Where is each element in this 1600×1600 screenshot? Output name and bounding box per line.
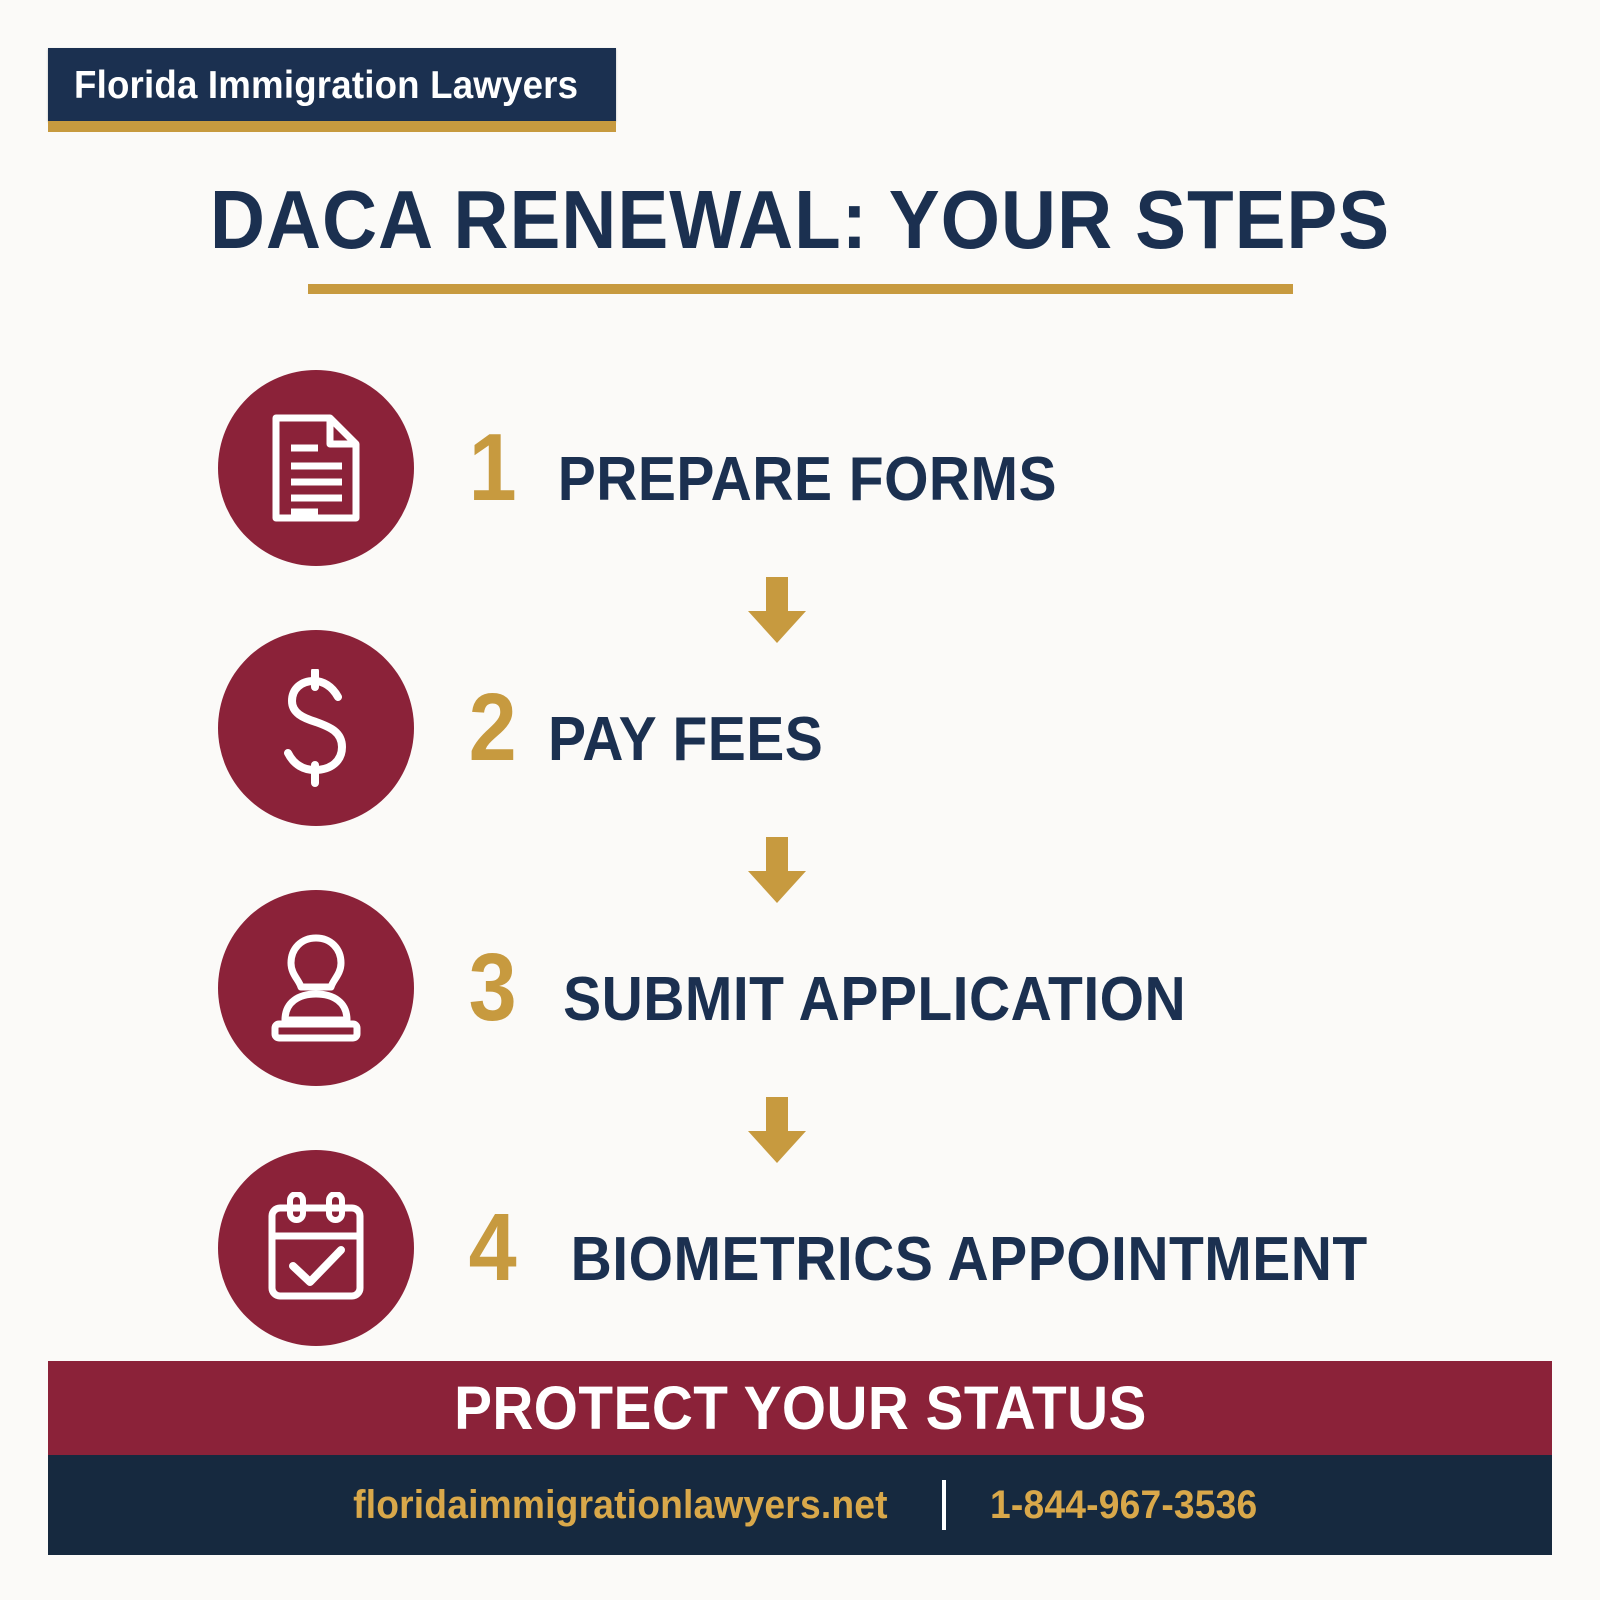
footer-band: floridaimmigrationlawyers.net 1-844-967-… <box>48 1455 1552 1555</box>
infographic-poster: Florida Immigration Lawyers DACA RENEWAL… <box>0 0 1600 1600</box>
footer-contact-group: floridaimmigrationlawyers.net 1-844-967-… <box>333 1480 1267 1530</box>
step-label: SUBMIT APPLICATION <box>563 969 1186 1031</box>
steps-list: 1 PREPARE FORMS <box>0 368 1600 1348</box>
cta-text: PROTECT YOUR STATUS <box>454 1378 1147 1439</box>
page-title: DACA RENEWAL: YOUR STEPS <box>64 178 1536 263</box>
footer-divider <box>942 1480 946 1530</box>
arrow-down-icon <box>746 837 808 879</box>
step-row: 2 PAY FEES <box>0 628 1600 828</box>
connector-arrow <box>0 837 1600 879</box>
step-row: 3 SUBMIT APPLICATION <box>0 888 1600 1088</box>
step-label: PREPARE FORMS <box>558 449 1057 511</box>
connector-arrow <box>0 1097 1600 1139</box>
document-icon <box>266 412 366 524</box>
step-icon-circle <box>218 1150 414 1346</box>
brand-badge: Florida Immigration Lawyers <box>48 48 616 121</box>
step-label: BIOMETRICS APPOINTMENT <box>571 1229 1368 1291</box>
step-text: 4 BIOMETRICS APPOINTMENT <box>466 1200 1402 1296</box>
cta-band: PROTECT YOUR STATUS <box>48 1361 1552 1455</box>
step-icon-circle <box>218 370 414 566</box>
brand-badge-wrapper: Florida Immigration Lawyers <box>48 48 616 132</box>
step-icon-circle <box>218 890 414 1086</box>
brand-underbar <box>48 121 616 132</box>
step-text: 1 PREPARE FORMS <box>466 420 1079 516</box>
arrow-down-icon <box>746 1097 808 1139</box>
step-number: 2 <box>469 680 516 776</box>
step-label: PAY FEES <box>548 709 823 771</box>
title-underline-rule <box>308 284 1293 294</box>
footer-phone[interactable]: 1-844-967-3536 <box>990 1485 1257 1525</box>
title-block: DACA RENEWAL: YOUR STEPS <box>0 178 1600 294</box>
step-number: 1 <box>469 420 516 516</box>
step-row: 4 BIOMETRICS APPOINTMENT <box>0 1148 1600 1348</box>
calendar-check-icon <box>262 1192 370 1304</box>
step-number: 4 <box>469 1200 516 1296</box>
arrow-down-icon <box>746 577 808 619</box>
step-text: 2 PAY FEES <box>466 680 835 776</box>
footer-website[interactable]: floridaimmigrationlawyers.net <box>353 1485 888 1525</box>
step-text: 3 SUBMIT APPLICATION <box>466 940 1213 1036</box>
connector-arrow <box>0 577 1600 619</box>
step-number: 3 <box>469 940 516 1036</box>
step-icon-circle <box>218 630 414 826</box>
step-row: 1 PREPARE FORMS <box>0 368 1600 568</box>
dollar-sign-icon <box>270 669 362 787</box>
brand-name: Florida Immigration Lawyers <box>74 66 559 105</box>
rubber-stamp-icon <box>261 932 371 1044</box>
